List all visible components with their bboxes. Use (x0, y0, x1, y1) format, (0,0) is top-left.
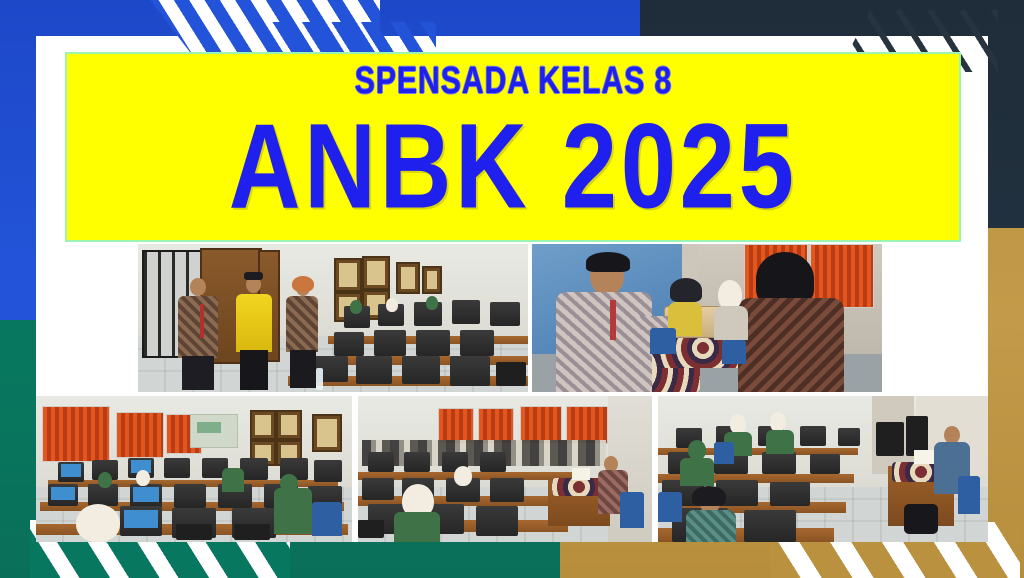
photo-bottom-right (658, 396, 988, 542)
poster-canvas: SPENSADA KELAS 8 ANBK 2025 (0, 0, 1024, 578)
collage-gap-bottom-2 (652, 396, 658, 542)
photo-top-left (138, 244, 528, 392)
photo-collage (36, 244, 988, 542)
collage-gap-bottom-1 (352, 396, 358, 542)
photo-top-right (532, 244, 882, 392)
photo-bottom-center (358, 396, 652, 542)
collage-gap-right (882, 244, 988, 392)
title-banner: SPENSADA KELAS 8 ANBK 2025 (65, 52, 961, 242)
banner-subtitle: SPENSADA KELAS 8 (354, 62, 671, 100)
photo-bottom-left (36, 396, 352, 542)
collage-gap-left (36, 244, 102, 392)
page-title: ANBK 2025 (229, 102, 798, 229)
